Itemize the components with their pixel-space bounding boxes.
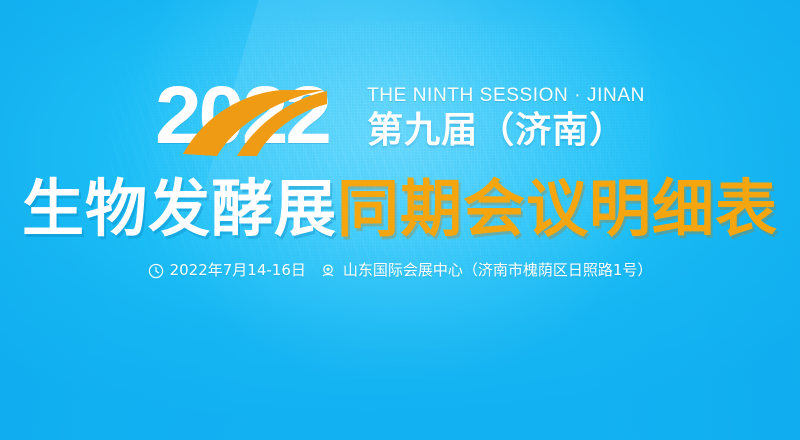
clock-icon [148,262,165,279]
page-title-white-part: 生物发酵展 [22,172,337,245]
year-logo-text: 2022 [155,75,329,157]
page-title-orange-part: 同期会议明细表 [337,172,778,245]
event-date: 2022年7月14-16日 [170,263,306,278]
logo-row: 2022 THE NINTH SESSION · JINAN 第九届（济南） [0,84,800,160]
event-banner: 2022 THE NINTH SESSION · JINAN 第九届（济南） 生… [0,0,800,440]
page-title: 生物发酵展同期会议明细表 [0,178,800,240]
year-logo: 2022 [155,84,355,160]
event-meta-row: 2022年7月14-16日 山东国际会展中心（济南市槐荫区日照路1号） [0,262,800,279]
edition-english-label: THE NINTH SESSION · JINAN [367,86,645,105]
edition-chinese-label: 第九届（济南） [367,112,645,150]
edition-title-block: THE NINTH SESSION · JINAN 第九届（济南） [367,84,645,150]
banner-content: 2022 THE NINTH SESSION · JINAN 第九届（济南） 生… [0,0,800,440]
location-pin-icon [320,262,337,279]
event-venue: 山东国际会展中心（济南市槐荫区日照路1号） [343,263,653,278]
